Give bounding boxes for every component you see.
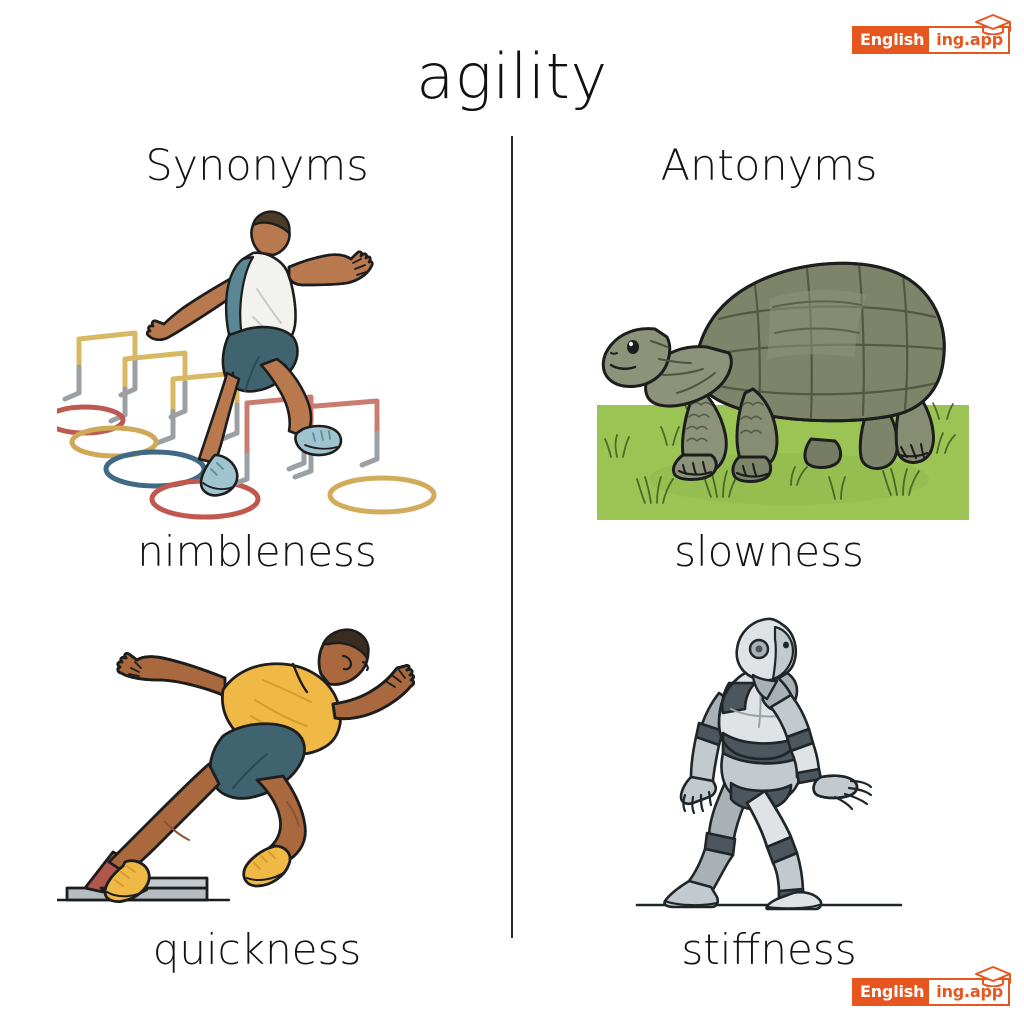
sprinter xyxy=(105,629,414,901)
brand-right-text: ing.app xyxy=(929,28,1008,52)
column-divider xyxy=(511,136,513,938)
humanoid-robot xyxy=(664,619,871,909)
brand-right-text: ing.app xyxy=(929,980,1008,1004)
cell-stiffness: stiffness xyxy=(534,600,1004,990)
agility-ring-yellow-2 xyxy=(330,478,434,512)
illustration-sprinter xyxy=(22,600,492,925)
cell-quickness: quickness xyxy=(22,600,492,990)
worksheet-page: agility English ing.app English ing.app … xyxy=(0,0,1024,1024)
word-label-nimbleness: nimbleness xyxy=(22,526,492,578)
tortoise-eye xyxy=(627,340,639,354)
cell-slowness: slowness xyxy=(534,202,1004,592)
illustration-agility-hurdles xyxy=(22,202,492,527)
brand-left-text: English xyxy=(854,980,929,1004)
word-label-slowness: slowness xyxy=(534,526,1004,578)
brand-left-text: English xyxy=(854,28,929,52)
word-label-stiffness: stiffness xyxy=(534,924,1004,976)
cell-nimbleness: nimbleness xyxy=(22,202,492,592)
robot-eye xyxy=(783,642,789,649)
illustration-tortoise xyxy=(534,202,1004,527)
antonyms-heading: Antonyms xyxy=(534,140,1004,192)
illustration-robot xyxy=(534,600,1004,925)
synonyms-heading: Synonyms xyxy=(22,140,492,192)
brand-logo-bottom[interactable]: English ing.app xyxy=(852,978,1010,1006)
brand-logo-top[interactable]: English ing.app xyxy=(852,26,1010,54)
word-label-quickness: quickness xyxy=(22,924,492,976)
